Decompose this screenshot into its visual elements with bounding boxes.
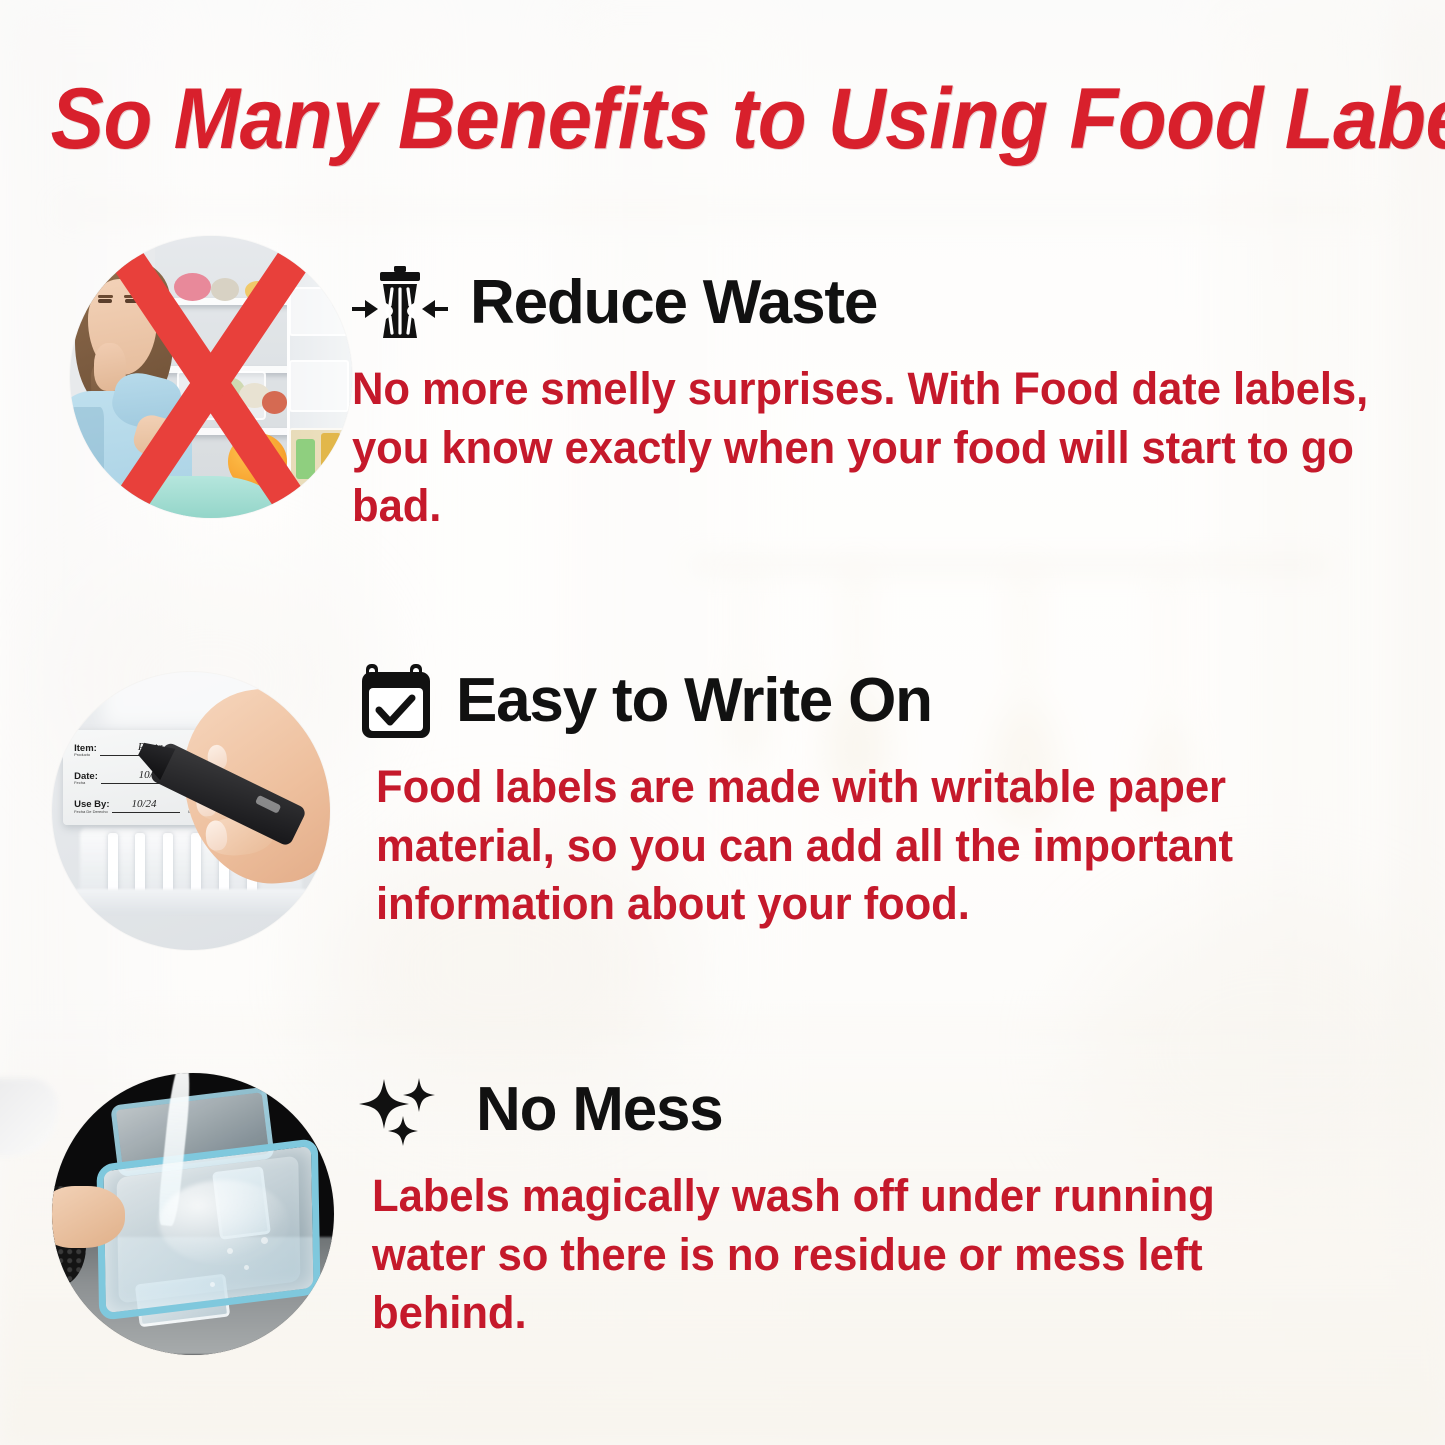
label-field-subkey: Producto [74,753,97,757]
benefit-heading-label: Reduce Waste [470,272,877,334]
reduce-waste-trash-icon [352,260,448,346]
calendar-check-icon [358,658,434,744]
page-title: So Many Benefits to Using Food Labels [51,76,1395,164]
photo-washing-container-lid [52,1073,334,1355]
benefit-text-block: Reduce Waste No more smelly surprises. W… [352,260,1402,536]
benefit-body-text: Labels magically wash off under running … [372,1167,1323,1343]
label-field-subkey: Fecha De Derecho [74,810,109,814]
benefit-text-block: No Mess Labels magically wash off under … [358,1067,1368,1343]
benefit-body-text: Food labels are made with writable paper… [376,758,1363,934]
benefits-infographic: So Many Benefits to Using Food Labels [0,0,1445,1445]
benefit-body-text: No more smelly surprises. With Food date… [352,360,1378,536]
sparkles-icon [358,1067,454,1153]
photo-woman-smelling-fridge [70,236,352,518]
label-field-subkey: Fecha [74,781,98,785]
benefit-heading: Easy to Write On [358,658,1388,744]
label-field-value: 10/24 [131,798,156,810]
photo-writing-on-label: Item: Producto Pasta Date: Fecha [52,672,330,950]
benefit-row: Item: Producto Pasta Date: Fecha [0,650,1445,980]
benefit-heading-label: No Mess [476,1079,723,1141]
benefit-heading: No Mess [358,1067,1368,1153]
benefit-row: No Mess Labels magically wash off under … [0,1055,1445,1385]
benefit-row: Reduce Waste No more smelly surprises. W… [0,236,1445,566]
benefit-text-block: Easy to Write On Food labels are made wi… [358,658,1388,934]
benefit-heading-label: Easy to Write On [456,670,932,732]
benefit-heading: Reduce Waste [352,260,1402,346]
